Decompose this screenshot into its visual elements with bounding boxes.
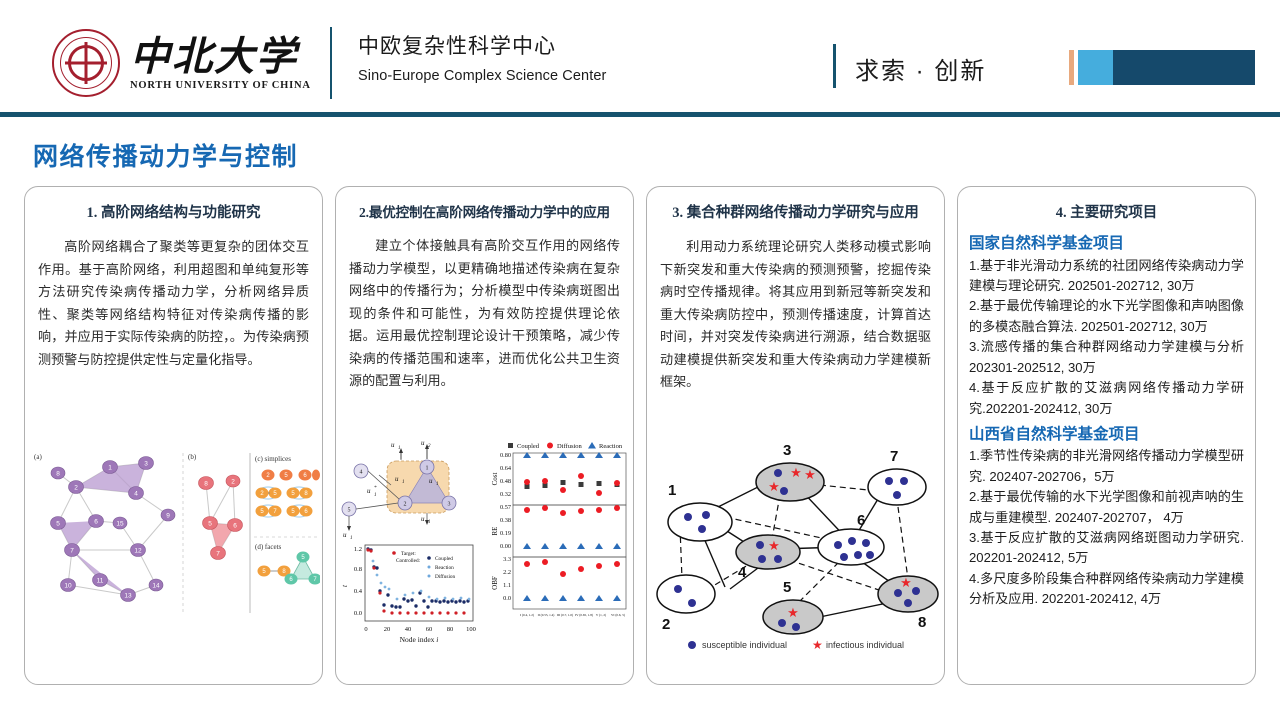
svg-text:6: 6	[233, 523, 237, 530]
page-header: 中北大学 NORTH UNIVERSITY OF CHINA 中欧复杂性科学中心…	[0, 0, 1280, 112]
svg-text:11: 11	[96, 578, 103, 585]
svg-text:8: 8	[204, 481, 208, 488]
svg-text:5: 5	[56, 521, 60, 528]
svg-text:6: 6	[94, 519, 98, 526]
svg-text:1.1: 1.1	[503, 582, 511, 589]
university-name-cn: 中北大学	[130, 36, 311, 78]
svg-text:7: 7	[890, 448, 898, 465]
project-list: 国家自然科学基金项目 1.基于非光滑动力系统的社团网络传染病动力学建模与理论研究…	[969, 232, 1244, 609]
svg-text:V (1, 2): V (1, 2)	[595, 613, 605, 618]
svg-text:7: 7	[70, 548, 74, 555]
svg-text:3: 3	[783, 442, 791, 459]
svg-text:III (0.7, 1.0): III (0.7, 1.0)	[556, 613, 572, 618]
svg-text:OBF: OBF	[491, 576, 499, 590]
svg-text:t: t	[341, 584, 349, 587]
svg-text:80: 80	[446, 626, 453, 633]
svg-text:★: ★	[790, 465, 802, 480]
svg-text:1: 1	[398, 446, 401, 451]
svg-text:0.00: 0.00	[499, 543, 510, 550]
svg-text:u: u	[421, 515, 425, 523]
svg-text:4: 4	[134, 491, 138, 498]
header-divider-2	[833, 44, 836, 88]
svg-text:2: 2	[231, 479, 235, 486]
svg-text:RE: RE	[491, 527, 499, 536]
svg-text:1: 1	[428, 520, 431, 525]
svg-text:Diffusion: Diffusion	[435, 573, 456, 580]
card-research-projects: 4. 主要研究项目 国家自然科学基金项目 1.基于非光滑动力系统的社团网络传染病…	[957, 186, 1256, 685]
center-name-cn: 中欧复杂性科学中心	[358, 33, 606, 61]
svg-text:2: 2	[662, 616, 670, 633]
svg-text:Controlled:: Controlled:	[396, 558, 421, 564]
project-item: 2.基于最优传输的水下光学图像和前视声呐的生成与重建模型. 202407-202…	[969, 487, 1244, 528]
svg-text:0.38: 0.38	[499, 517, 510, 524]
svg-text:2: 2	[74, 485, 78, 492]
svg-text:Coupled: Coupled	[517, 443, 540, 450]
svg-text:Cost: Cost	[491, 473, 499, 486]
svg-text:0.32: 0.32	[499, 491, 510, 498]
svg-text:13: 13	[124, 593, 132, 600]
svg-text:0: 0	[364, 626, 367, 633]
svg-text:12: 12	[134, 548, 142, 555]
university-name-en: NORTH UNIVERSITY OF CHINA	[130, 80, 311, 91]
svg-text:u: u	[343, 531, 347, 539]
svg-text:★: ★	[768, 538, 780, 553]
card-1-title: 1. 高阶网络结构与功能研究	[25, 205, 322, 222]
svg-text:u: u	[391, 441, 395, 449]
svg-text:0.48: 0.48	[499, 478, 510, 485]
svg-text:(d) facets: (d) facets	[255, 543, 282, 551]
project-item: 4.基于反应扩散的艾滋病网络传播动力学研究.202201-202412, 30万	[969, 378, 1244, 419]
project-item: 2.基于最优传输理论的水下光学图像和声呐图像的多模态融合算法. 202501-2…	[969, 296, 1244, 337]
svg-text:0.19: 0.19	[499, 530, 510, 537]
center-name-block: 中欧复杂性科学中心 Sino-Europe Complex Science Ce…	[358, 33, 606, 84]
project-item: 3.流感传播的集合种群网络动力学建模与分析 202301-202512, 30万	[969, 337, 1244, 378]
project-item: 1.基于非光滑动力系统的社团网络传染病动力学建模与理论研究. 202501-20…	[969, 256, 1244, 297]
svg-text:20: 20	[383, 626, 390, 633]
svg-text:10: 10	[64, 583, 72, 590]
svg-text:5: 5	[347, 508, 350, 514]
svg-text:IV (0.65, 1.8): IV (0.65, 1.8)	[575, 613, 593, 618]
svg-text:0.0: 0.0	[503, 595, 511, 602]
svg-text:(c) simplices: (c) simplices	[255, 455, 291, 463]
svg-text:1: 1	[350, 536, 353, 541]
card-4-title: 4. 主要研究项目	[958, 205, 1255, 222]
color-block-orange	[1069, 50, 1074, 85]
project-item: 3.基于反应扩散的艾滋病网络斑图动力学研究. 202201-202412, 5万	[969, 528, 1244, 569]
svg-text:0.64: 0.64	[499, 465, 511, 472]
svg-text:Node index i: Node index i	[399, 635, 438, 644]
svg-text:3.3: 3.3	[503, 556, 511, 563]
header-rule	[0, 112, 1280, 117]
svg-text:5: 5	[783, 579, 791, 596]
project-section-heading-shanxi: 山西省自然科学基金项目	[969, 423, 1244, 446]
card-2-body: 建立个体接触具有高阶交互作用的网络传播动力学模型，以更精确地描述传染病在复杂网络…	[349, 235, 620, 393]
svg-text:0.57: 0.57	[499, 504, 510, 511]
svg-text:1: 1	[668, 482, 676, 499]
svg-text:14: 14	[152, 583, 160, 590]
svg-text:Target:: Target:	[401, 551, 416, 557]
card-3-body: 利用动力系统理论研究人类移动模式影响下新突发和重大传染病的预测预警，挖掘传染病时…	[660, 236, 931, 394]
svg-text:100: 100	[466, 626, 476, 633]
svg-text:infectious individual: infectious individual	[826, 640, 904, 650]
svg-text:*: *	[374, 486, 377, 491]
svg-text:1: 1	[108, 465, 112, 472]
header-divider-1	[330, 27, 332, 99]
svg-text:II (0.55, 1.4): II (0.55, 1.4)	[537, 613, 554, 618]
svg-text:4: 4	[738, 564, 747, 581]
svg-text:★: ★	[804, 467, 816, 482]
card-3-title: 3. 集合种群网络传播动力学研究与应用	[647, 205, 944, 222]
svg-text:Reaction: Reaction	[435, 565, 454, 571]
svg-text:0.80: 0.80	[499, 452, 510, 459]
project-item: 1.季节性传染病的非光滑网络传播动力学模型研究. 202407-202706，5…	[969, 446, 1244, 487]
university-name: 中北大学 NORTH UNIVERSITY OF CHINA	[130, 36, 311, 91]
university-seal-icon	[52, 29, 120, 97]
svg-text:0.8: 0.8	[353, 566, 361, 573]
svg-text:u: u	[367, 487, 371, 495]
figure-optimal-control: 123 45	[336, 439, 633, 654]
svg-text:susceptible individual: susceptible individual	[702, 640, 787, 650]
svg-text:★: ★	[768, 479, 780, 494]
svg-text:I (0.4, 1.2): I (0.4, 1.2)	[519, 613, 533, 618]
svg-text:40: 40	[404, 626, 411, 633]
svg-text:8: 8	[918, 614, 926, 631]
page-title: 网络传播动力学与控制	[33, 137, 298, 173]
card-row: 1. 高阶网络结构与功能研究 高阶网络耦合了聚类等更复杂的团体交互作用。基于高阶…	[24, 186, 1256, 685]
svg-text:1: 1	[436, 482, 439, 487]
svg-text:1: 1	[402, 480, 405, 485]
card-higher-order-network: 1. 高阶网络结构与功能研究 高阶网络耦合了聚类等更复杂的团体交互作用。基于高阶…	[24, 186, 323, 685]
university-logo: 中北大学 NORTH UNIVERSITY OF CHINA	[52, 26, 334, 100]
svg-text:9: 9	[166, 513, 170, 520]
card-1-body: 高阶网络耦合了聚类等更复杂的团体交互作用。基于高阶网络，利用超图和单纯复形等方法…	[38, 236, 309, 371]
project-section-heading-nsfc: 国家自然科学基金项目	[969, 232, 1244, 255]
svg-text:3: 3	[447, 502, 450, 508]
card-metapopulation: 3. 集合种群网络传播动力学研究与应用 利用动力系统理论研究人类移动模式影响下新…	[646, 186, 945, 685]
card-2-title: 2.最优控制在高阶网络传播动力学中的应用	[336, 205, 633, 221]
svg-text:15: 15	[116, 521, 124, 528]
svg-text:5: 5	[208, 521, 212, 528]
svg-text:3: 3	[144, 461, 148, 468]
svg-text:2: 2	[403, 502, 406, 508]
svg-text:7: 7	[216, 551, 220, 558]
svg-text:Reaction: Reaction	[599, 443, 623, 450]
svg-text:(b): (b)	[188, 453, 197, 461]
svg-text:(a): (a)	[34, 453, 42, 461]
slogan-text: 求索 · 创新	[855, 51, 986, 86]
figure-metapopulation-network: 123 456 78 ★★★ ★	[647, 437, 944, 662]
project-item: 4.多尺度多阶段集合种群网络传染病动力学建模分析及应用. 202201-2024…	[969, 569, 1244, 610]
svg-text:★: ★	[787, 605, 799, 620]
svg-text:VI (0.6, 5): VI (0.6, 5)	[611, 613, 625, 618]
svg-text:★: ★	[900, 575, 912, 590]
svg-text:8: 8	[56, 471, 60, 478]
svg-text:1: 1	[374, 493, 377, 498]
figure-higher-order-network: (a)	[25, 445, 322, 625]
svg-text:4: 4	[359, 470, 362, 476]
svg-text:2.2: 2.2	[503, 569, 511, 576]
svg-text:0.0: 0.0	[353, 610, 361, 617]
svg-text:1.2: 1.2	[353, 546, 361, 553]
svg-text:Diffusion: Diffusion	[557, 443, 583, 450]
header-color-blocks	[1069, 50, 1255, 85]
svg-text:2: 2	[428, 444, 431, 449]
center-name-en: Sino-Europe Complex Science Center	[358, 68, 606, 84]
svg-text:60: 60	[425, 626, 432, 633]
svg-text:u: u	[421, 439, 425, 447]
color-block-navy	[1113, 50, 1255, 85]
svg-text:6: 6	[857, 512, 865, 529]
svg-text:u: u	[429, 477, 433, 485]
svg-text:Coupled: Coupled	[435, 556, 453, 562]
svg-text:1: 1	[425, 466, 428, 472]
color-block-blue	[1078, 50, 1113, 85]
card-optimal-control: 2.最优控制在高阶网络传播动力学中的应用 建立个体接触具有高阶交互作用的网络传播…	[335, 186, 634, 685]
svg-text:0.4: 0.4	[353, 588, 362, 595]
svg-text:u: u	[395, 475, 399, 483]
svg-text:★: ★	[812, 638, 823, 652]
